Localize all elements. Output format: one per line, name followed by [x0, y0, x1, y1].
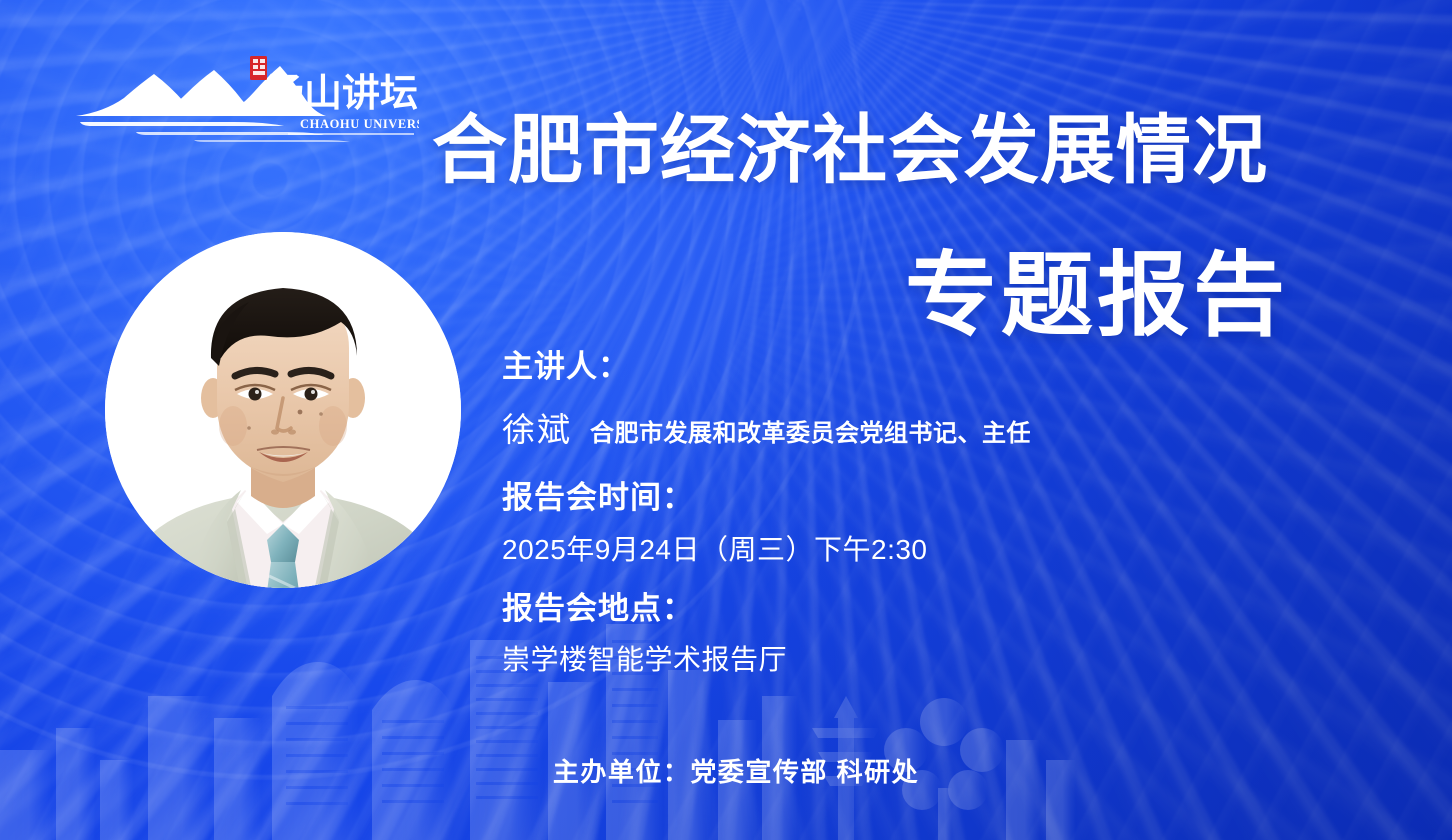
speaker-name: 徐斌 [502, 403, 572, 451]
organizer-line: 主办单位：党委宣传部 科研处 [0, 752, 1452, 789]
portrait-illustration [99, 190, 467, 636]
time-value: 2025年9月24日（周三）下午2:30 [502, 528, 1362, 568]
svg-text:汤山讲坛: 汤山讲坛 [266, 71, 418, 115]
speaker-portrait [105, 232, 461, 588]
place-value: 崇学楼智能学术报告厅 [502, 638, 1362, 678]
chaohu-university-logo: 汤山讲坛 CHAOHU UNIVERSITY [74, 52, 419, 144]
svg-text:CHAOHU UNIVERSITY: CHAOHU UNIVERSITY [300, 117, 419, 131]
place-label: 报告会地点： [502, 590, 1362, 629]
page-title-line2: 专题报告 [905, 250, 1289, 342]
speaker-row: 徐斌 合肥市发展和改革委员会党组书记、主任 [502, 403, 1362, 451]
poster-canvas: 汤山讲坛 CHAOHU UNIVERSITY [0, 0, 1452, 840]
event-info-block: 主讲人： 徐斌 合肥市发展和改革委员会党组书记、主任 报告会时间： 2025年9… [502, 348, 1362, 678]
speaker-title: 合肥市发展和改革委员会党组书记、主任 [590, 413, 1031, 448]
speaker-label: 主讲人： [502, 348, 1362, 387]
page-title-line1: 合肥市经济社会发展情况 [432, 113, 1268, 188]
time-label: 报告会时间： [502, 479, 1362, 518]
